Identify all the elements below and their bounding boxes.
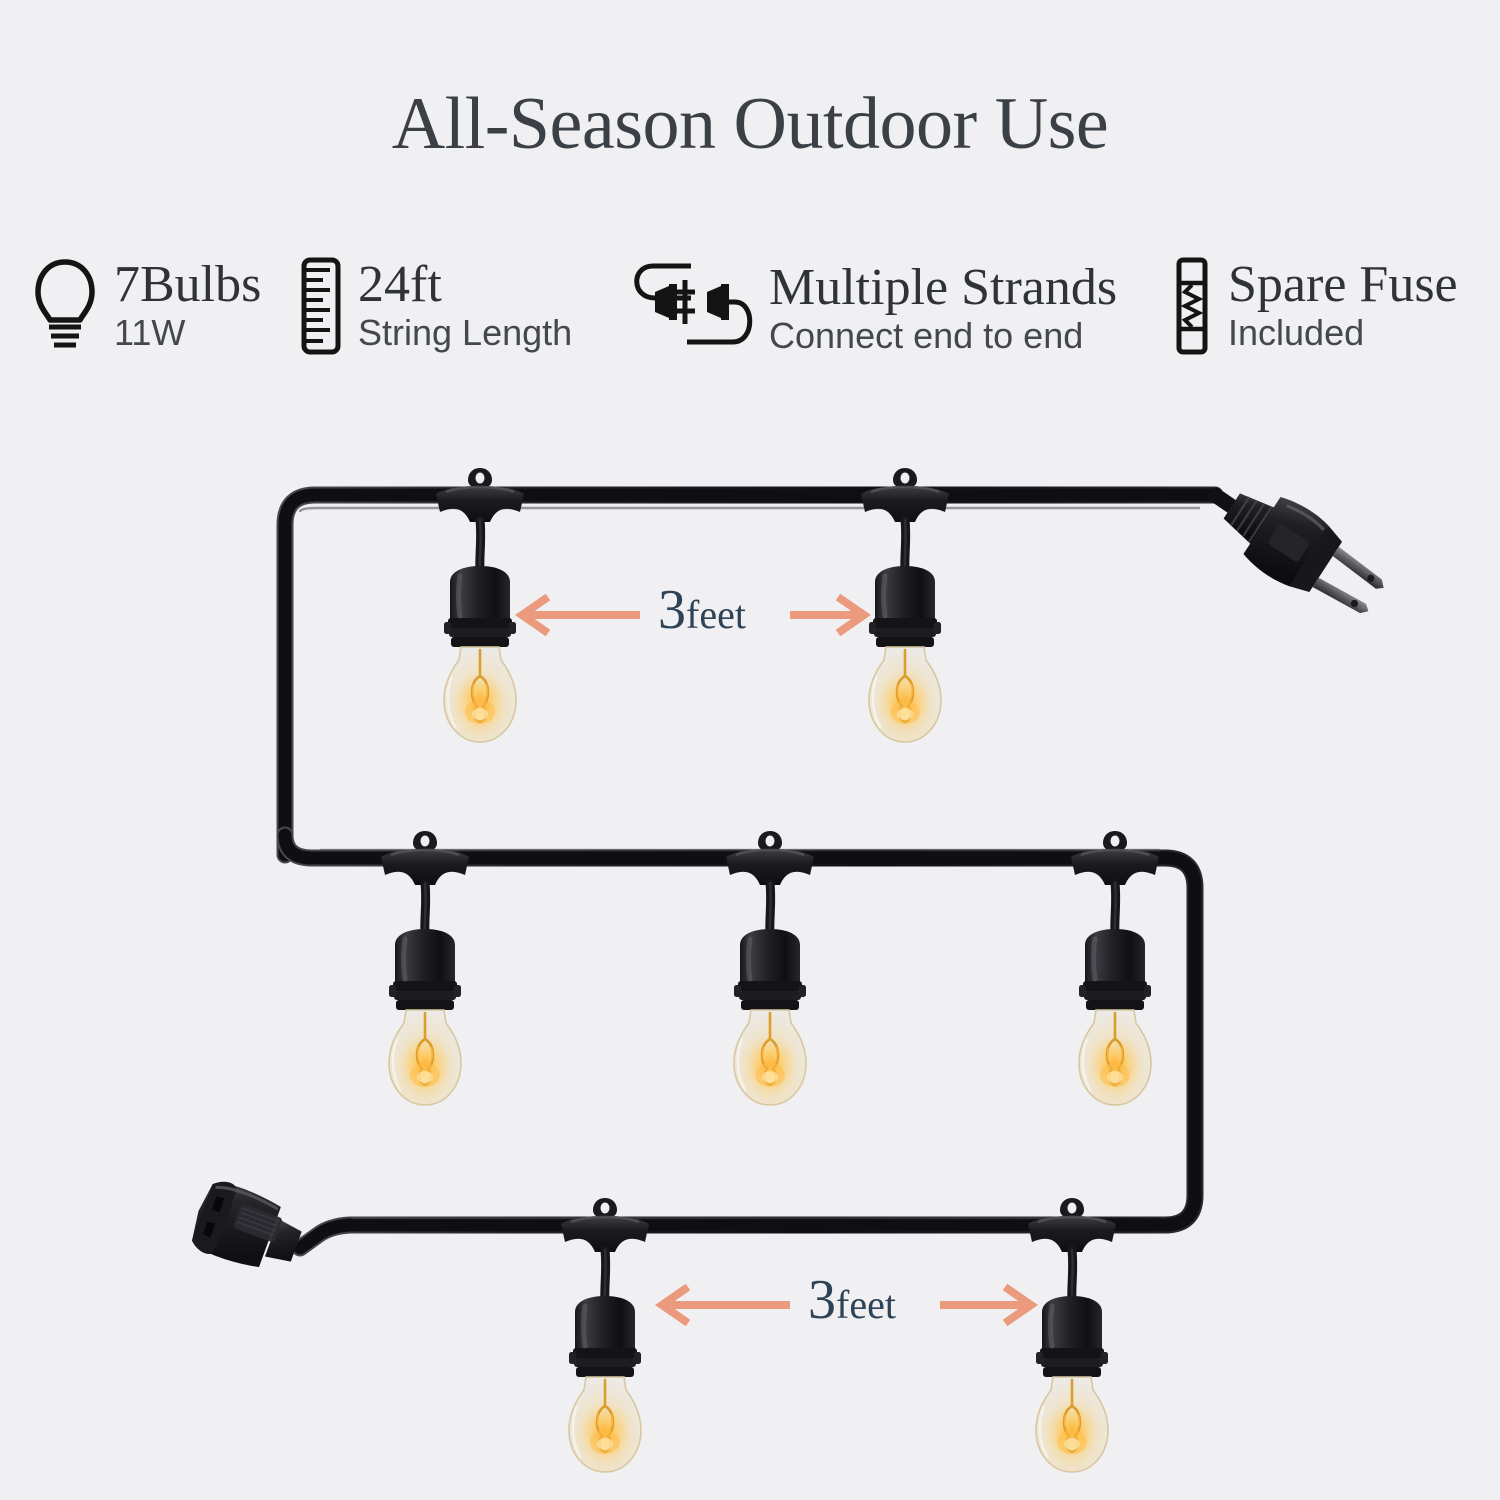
cord-bottom-row — [300, 1218, 1085, 1248]
infographic-page: All-Season Outdoor Use 7Bulbs 11W — [0, 0, 1500, 1500]
measurement-label-bottom: 3feet — [808, 1268, 896, 1332]
socket-assembly — [381, 831, 469, 1105]
cord-top-row — [285, 495, 1215, 855]
socket-assembly — [436, 468, 524, 742]
socket-assembly — [561, 1198, 649, 1472]
socket-assembly — [726, 831, 814, 1105]
measurement-value: 3 — [808, 1269, 836, 1331]
string-light-diagram — [0, 0, 1500, 1500]
measurement-unit: feet — [686, 592, 746, 637]
measurement-label-top: 3feet — [658, 578, 746, 642]
measurement-value: 3 — [658, 579, 686, 641]
socket-assembly — [861, 468, 949, 742]
female-socket-icon — [186, 1176, 309, 1282]
socket-assembly — [1028, 1198, 1116, 1472]
male-plug-icon — [1211, 473, 1398, 632]
socket-assembly — [1071, 831, 1159, 1105]
measurement-unit: feet — [836, 1282, 896, 1327]
